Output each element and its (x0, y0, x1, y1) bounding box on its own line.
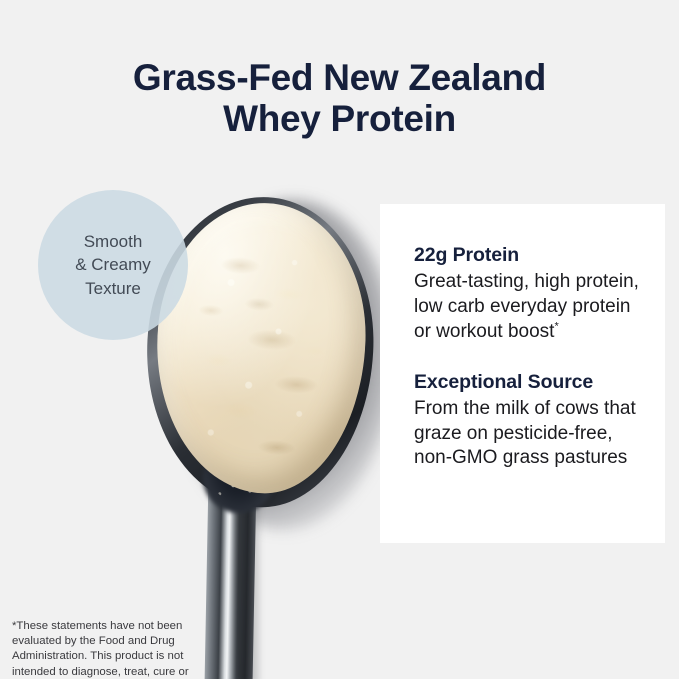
footnote-marker: * (554, 320, 558, 332)
feature-block-source: Exceptional Source From the milk of cows… (414, 371, 639, 472)
fda-disclaimer: *These statements have not been evaluate… (12, 619, 220, 679)
page-title: Grass-Fed New Zealand Whey Protein (0, 57, 679, 140)
feature-title: 22g Protein (414, 244, 639, 267)
smooth-creamy-texture-badge: Smooth & Creamy Texture (38, 190, 188, 340)
features-card: 22g Protein Great-tasting, high protein,… (380, 204, 665, 543)
feature-title: Exceptional Source (414, 371, 639, 394)
product-feature-graphic: Grass-Fed New Zealand Whey Protein Smoot… (0, 0, 679, 679)
badge-label: Smooth & Creamy Texture (75, 230, 151, 300)
headline-line-2: Whey Protein (0, 98, 679, 139)
feature-body: Great-tasting, high protein, low carb ev… (414, 270, 639, 345)
headline-line-1: Grass-Fed New Zealand (133, 57, 546, 98)
feature-block-protein: 22g Protein Great-tasting, high protein,… (414, 244, 639, 345)
feature-body: From the milk of cows that graze on pest… (414, 397, 639, 472)
feature-body-text: Great-tasting, high protein, low carb ev… (414, 271, 639, 342)
